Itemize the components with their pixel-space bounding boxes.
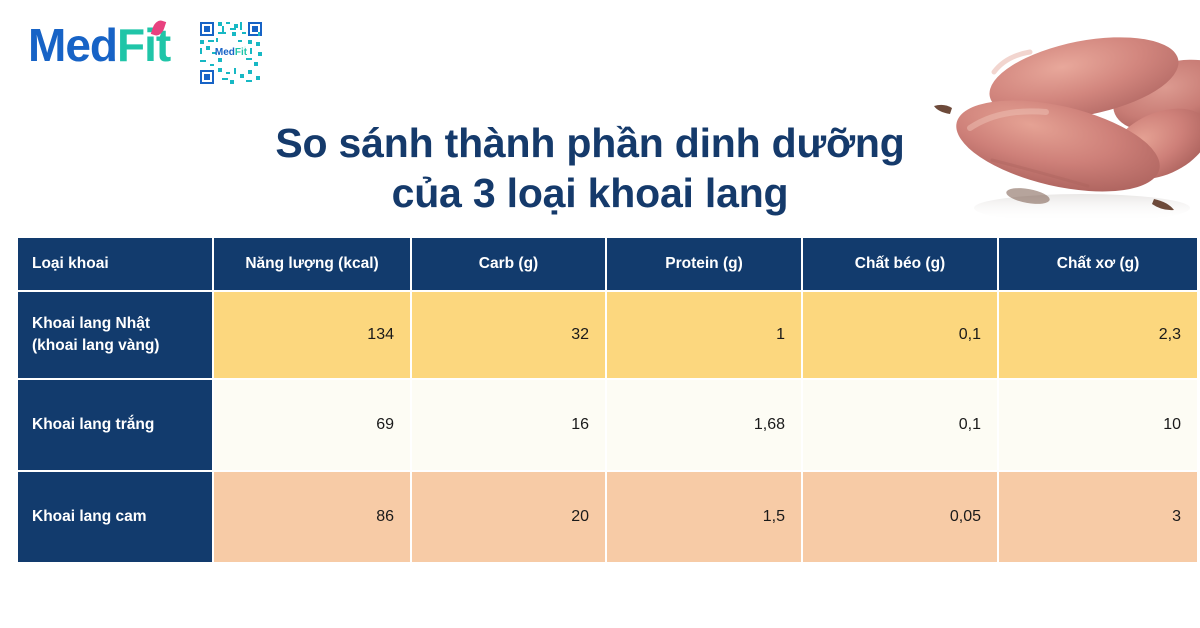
page-title-line-2: của 3 loại khoai lang (210, 168, 970, 218)
comparison-table: Loại khoai Năng lượng (kcal) Carb (g) Pr… (16, 236, 1199, 564)
row-label-line-1: Khoai lang cam (32, 506, 212, 528)
cell-fat: 0,1 (803, 292, 997, 378)
medfit-logo: MedFit (28, 22, 170, 68)
cell-fiber: 10 (999, 380, 1197, 470)
column-header-fiber: Chất xơ (g) (999, 238, 1197, 290)
cell-energy: 134 (214, 292, 410, 378)
column-header-fat: Chất béo (g) (803, 238, 997, 290)
cell-protein: 1,68 (607, 380, 801, 470)
cell-energy: 69 (214, 380, 410, 470)
page-title: So sánh thành phần dinh dưỡng của 3 loại… (210, 118, 970, 218)
nutrition-table: Loại khoai Năng lượng (kcal) Carb (g) Pr… (16, 236, 1185, 564)
cell-energy: 86 (214, 472, 410, 562)
sweet-potato-photo (932, 0, 1200, 228)
column-header-energy: Năng lượng (kcal) (214, 238, 410, 290)
row-label-japanese-sweet-potato: Khoai lang Nhật (khoai lang vàng) (18, 292, 212, 378)
cell-carb: 32 (412, 292, 605, 378)
row-label-line-1: Khoai lang Nhật (32, 313, 212, 335)
column-header-carb: Carb (g) (412, 238, 605, 290)
logo-wordmark: MedFit (28, 22, 170, 68)
cell-protein: 1,5 (607, 472, 801, 562)
logo-text-med: Med (28, 19, 117, 71)
row-label-white-sweet-potato: Khoai lang trắng (18, 380, 212, 470)
qr-center-label: MedFit (215, 47, 248, 58)
row-label-orange-sweet-potato: Khoai lang cam (18, 472, 212, 562)
row-label-line-1: Khoai lang trắng (32, 414, 212, 436)
cell-protein: 1 (607, 292, 801, 378)
cell-carb: 16 (412, 380, 605, 470)
table-row: Khoai lang trắng 69 16 1,68 0,1 10 (18, 380, 1197, 470)
qr-code-icon[interactable]: MedFit (198, 20, 264, 86)
table-row: Khoai lang cam 86 20 1,5 0,05 3 (18, 472, 1197, 562)
cell-fat: 0,1 (803, 380, 997, 470)
column-header-protein: Protein (g) (607, 238, 801, 290)
cell-fat: 0,05 (803, 472, 997, 562)
page-title-line-1: So sánh thành phần dinh dưỡng (210, 118, 970, 168)
cell-fiber: 2,3 (999, 292, 1197, 378)
row-label-line-2: (khoai lang vàng) (32, 335, 212, 357)
table-header-row: Loại khoai Năng lượng (kcal) Carb (g) Pr… (18, 238, 1197, 290)
infographic-page: MedFit (0, 0, 1200, 628)
cell-fiber: 3 (999, 472, 1197, 562)
cell-carb: 20 (412, 472, 605, 562)
table-row: Khoai lang Nhật (khoai lang vàng) 134 32… (18, 292, 1197, 378)
column-header-type: Loại khoai (18, 238, 212, 290)
